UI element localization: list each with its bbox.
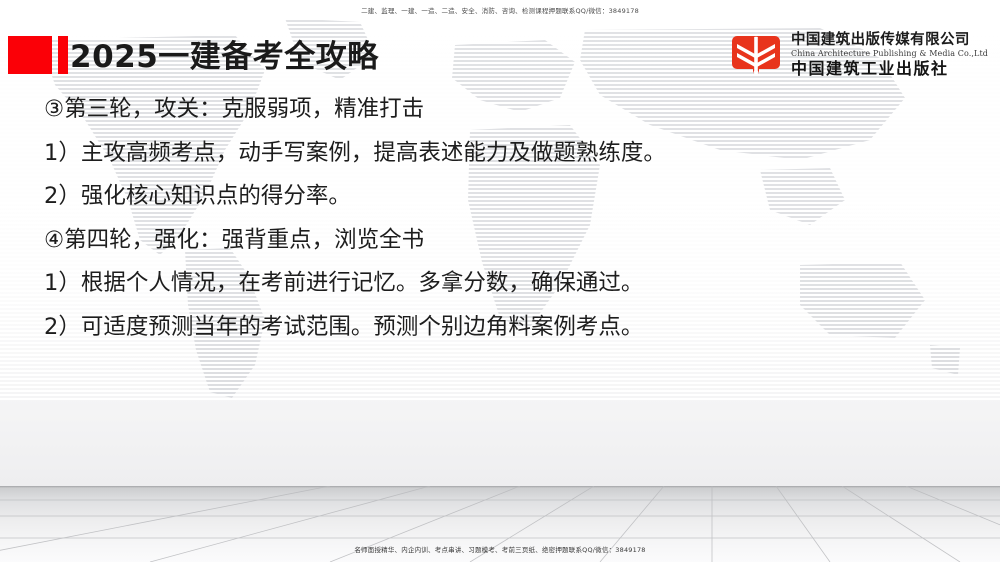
content-line: ④第四轮，强化：强背重点，浏览全书 <box>44 219 954 263</box>
open-book-logo-icon <box>730 30 782 80</box>
page-title: 2025一建备考全攻略 <box>70 36 379 78</box>
content-line: ③第三轮，攻关：克服弱项，精准打击 <box>44 88 954 132</box>
publisher-logo-text: 中国建筑出版传媒有限公司 China Architecture Publishi… <box>791 31 988 79</box>
content-line: 2）可适度预测当年的考试范围。预测个别边角料案例考点。 <box>44 306 954 350</box>
publisher-press-name: 中国建筑工业出版社 <box>791 59 988 79</box>
content-line: 1）根据个人情况，在考前进行记忆。多拿分数，确保通过。 <box>44 262 954 306</box>
publisher-company-name-en: China Architecture Publishing & Media Co… <box>791 48 988 59</box>
content-line: 2）强化核心知识点的得分率。 <box>44 175 954 219</box>
publisher-company-name: 中国建筑出版传媒有限公司 <box>791 31 988 48</box>
top-watermark-text: 二建、监理、一建、一造、二造、安全、消防、咨询、检测课程押题联系QQ/微信：38… <box>0 5 1000 15</box>
publisher-logo: 中国建筑出版传媒有限公司 China Architecture Publishi… <box>730 30 988 80</box>
bottom-watermark-text: 名师面授精华、内企内训、考点串讲、习题模考、考前三页纸、绝密押题联系QQ/微信：… <box>0 544 1000 554</box>
slide-body-content: ③第三轮，攻关：克服弱项，精准打击 1）主攻高频考点，动手写案例，提高表述能力及… <box>44 88 954 349</box>
content-line: 1）主攻高频考点，动手写案例，提高表述能力及做题熟练度。 <box>44 132 954 176</box>
presentation-slide: 二建、监理、一建、一造、二造、安全、消防、咨询、检测课程押题联系QQ/微信：38… <box>0 0 1000 562</box>
title-accent-bar-wide <box>8 36 52 74</box>
title-accent-bar-thin <box>58 36 68 74</box>
